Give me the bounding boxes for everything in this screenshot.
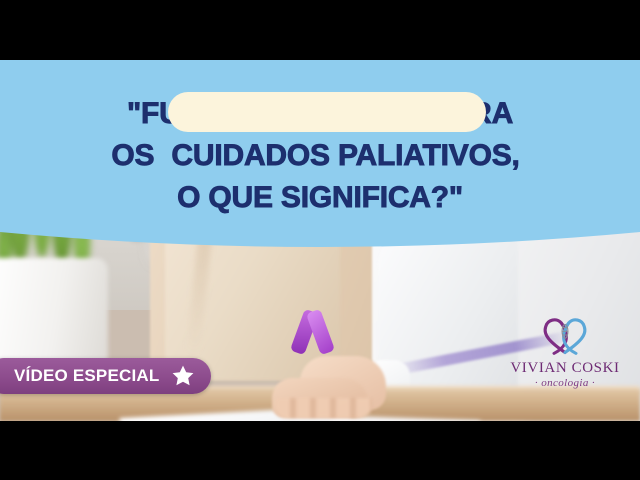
brand-logo: VIVIAN COSKI · oncologia · [500, 312, 630, 389]
video-thumbnail: "FUI ENCAMINHADO PARA OS CUIDADOS PALIAT… [0, 0, 640, 480]
letterbox-bottom [0, 421, 640, 480]
fingers [276, 398, 372, 418]
letterbox-top [0, 0, 640, 60]
headline-line-2-highlight: CUIDADOS PALIATIVOS, [162, 137, 528, 174]
headline-line-2-prefix: OS [111, 139, 162, 172]
purple-awareness-ribbon-icon [295, 308, 337, 360]
logo-tagline: · oncologia · [500, 377, 630, 389]
video-especial-badge[interactable]: VÍDEO ESPECIAL [0, 358, 211, 394]
headline-line-2: OS CUIDADOS PALIATIVOS, [0, 138, 640, 174]
badge-label: VÍDEO ESPECIAL [14, 366, 159, 386]
star-icon [171, 364, 195, 388]
heart-ribbon-dna-icon [537, 312, 593, 358]
headline-line-3: O QUE SIGNIFICA?" [0, 180, 640, 216]
headline-text: "FUI ENCAMINHADO PARA OS CUIDADOS PALIAT… [0, 96, 640, 216]
headline-highlight [168, 92, 486, 132]
logo-name: VIVIAN COSKI [500, 360, 630, 377]
